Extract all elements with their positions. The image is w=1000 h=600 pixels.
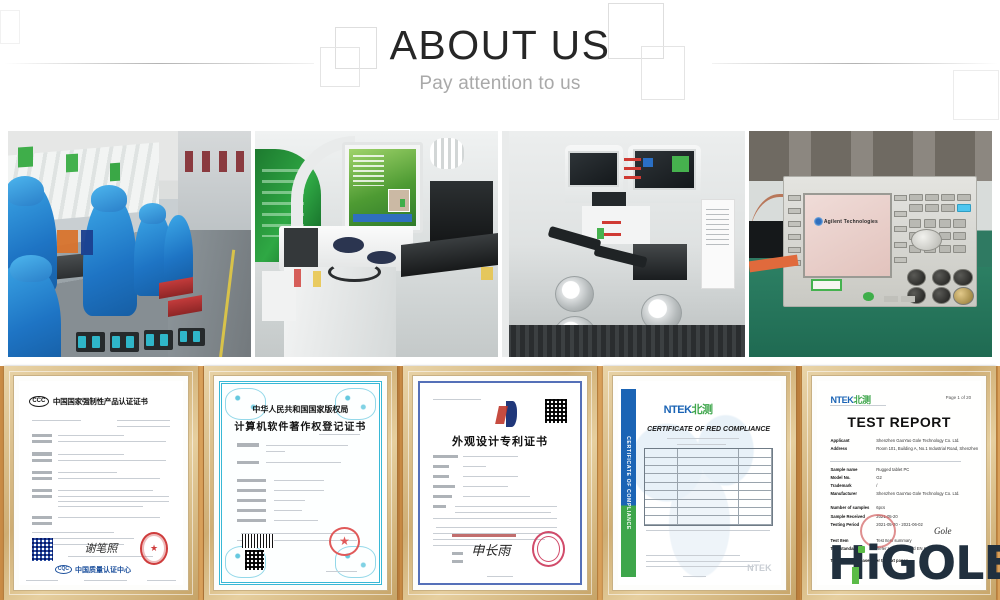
certificate-title: CERTIFICATE OF RED COMPLIANCE — [642, 426, 775, 433]
qr-code — [545, 399, 567, 423]
wall-red-bar — [202, 151, 210, 171]
certificate-signature: 申长雨 — [471, 540, 510, 559]
field-value: Shenzhen GaoYao Gole Technology Co. Ltd. — [876, 438, 959, 443]
field-label: Sample Received — [830, 514, 864, 519]
certificate-title: 中国国家强制性产品认证证书 — [53, 396, 148, 407]
standards-table — [644, 448, 773, 526]
ntek-brand: NTEK北测 — [830, 393, 870, 406]
field-label: Applicant — [830, 438, 849, 443]
field-value: 6pcs — [876, 505, 885, 510]
table-row — [645, 500, 772, 508]
table-row — [645, 474, 772, 482]
rack-green-panel — [18, 146, 33, 167]
photo-assembly-line[interactable] — [8, 131, 251, 357]
agilent-logo-icon — [814, 217, 823, 226]
table-row — [645, 508, 772, 516]
field-label: Model No. — [830, 475, 850, 480]
page-subtitle: Pay attention to us — [0, 73, 1000, 95]
cable-coil — [430, 138, 464, 170]
field-label: Trademark — [830, 483, 851, 488]
certificate-title: TEST REPORT — [817, 414, 981, 430]
field-value: G2 — [876, 475, 882, 480]
certificate-software-copyright[interactable]: 中华人民共和国国家版权局 计算机软件著作权登记证书 — [204, 366, 398, 600]
official-seal — [140, 532, 168, 565]
wall-red-bar — [236, 151, 244, 171]
authority-name: 中国质量认证中心 — [75, 565, 131, 575]
certificate-mat: CERTIFICATE OF COMPLIANCE NTEK北测 CERTIFI… — [612, 375, 788, 591]
table-row — [645, 516, 772, 524]
certificate-signature: 谢笔照 — [84, 540, 117, 556]
official-seal — [532, 531, 566, 567]
red-label — [602, 221, 621, 224]
about-us-page: ABOUT US Pay attention to us — [0, 0, 1000, 600]
sma-connector — [953, 287, 974, 305]
worker-cap — [91, 185, 127, 212]
certificate-title: 计算机软件著作权登记证书 — [222, 418, 380, 433]
table-row — [645, 466, 772, 474]
sidebar-label: CERTIFICATE OF COMPLIANCE — [625, 436, 631, 530]
rotary-knob[interactable] — [911, 229, 942, 251]
certificate-design-patent[interactable]: 外观设计专利证书 — [403, 366, 597, 600]
issuing-authority: 中华人民共和国国家版权局 — [222, 404, 380, 415]
field-label: Sample name — [830, 467, 857, 472]
rack-green-panel — [110, 162, 120, 181]
official-seal — [329, 527, 361, 557]
bnc-connector — [907, 269, 926, 286]
monitor-screen — [349, 149, 415, 225]
certificate-red-compliance[interactable]: CERTIFICATE OF COMPLIANCE NTEK北测 CERTIFI… — [603, 366, 797, 600]
certificate-document: CERTIFICATE OF COMPLIANCE NTEK北测 CERTIFI… — [618, 381, 782, 585]
bnc-connector — [953, 269, 972, 286]
certificate-title: 外观设计专利证书 — [420, 433, 580, 449]
logo-wordmark: HiGOLE — [828, 540, 1000, 586]
logo-dot-accent — [858, 546, 865, 553]
instrument-brand: Agilent Technologies — [824, 219, 878, 225]
calibration-label — [811, 279, 842, 291]
network-analyzer: Agilent Technologies — [783, 176, 977, 307]
cnipa-logo-icon — [495, 401, 519, 427]
screen-taskbar — [353, 214, 411, 222]
barcode — [242, 534, 274, 548]
certificate-sidebar: CERTIFICATE OF COMPLIANCE — [621, 389, 636, 577]
window-indicator — [643, 158, 653, 167]
machine-window — [568, 151, 619, 187]
field-value: Shenzhen GaoYao Gole Technology Co. Ltd. — [876, 491, 959, 496]
field-value: Rugged tablet PC — [876, 467, 909, 472]
machine-monitor — [342, 142, 422, 232]
header-text-block: ABOUT US Pay attention to us — [0, 0, 1000, 95]
logo-green-accent — [852, 567, 859, 584]
certificate-document: CCC 中国国家强制性产品认证证书 — [19, 381, 183, 585]
bnc-connector — [932, 269, 951, 286]
machine-controller — [284, 228, 318, 266]
authority-block: CQC 中国质量认证中心 — [55, 565, 131, 575]
field-value: Room 101, Building A, No.1 Industrial Ro… — [876, 446, 978, 451]
field-label: Address — [830, 446, 847, 451]
field-label: Manufacturer — [830, 491, 857, 496]
photo-smt-machine[interactable] — [255, 131, 498, 357]
field-value: / — [876, 483, 877, 488]
cqc-mark-icon: CQC — [55, 565, 72, 574]
machine-base — [502, 325, 745, 357]
table-row — [645, 449, 772, 457]
certificate-document: 外观设计专利证书 — [418, 381, 582, 585]
component-reel — [555, 276, 594, 312]
certificate-mat: 中华人民共和国国家版权局 计算机软件著作权登记证书 — [213, 375, 389, 591]
machine-handle — [333, 237, 365, 253]
red-label — [624, 167, 641, 170]
ccc-mark-icon: CCC — [29, 396, 49, 407]
worker — [164, 215, 193, 283]
certificate-mat: 外观设计专利证书 — [412, 375, 588, 591]
page-number: Page 1 of 20 — [946, 395, 972, 400]
instrument-screen: Agilent Technologies — [803, 193, 891, 278]
table-row — [645, 483, 772, 491]
field-label: Testing Period — [830, 522, 859, 527]
wall-red-bar — [219, 151, 227, 171]
photo-test-instrument[interactable]: Agilent Technologies — [749, 131, 992, 357]
field-label: Number of samples — [830, 505, 869, 510]
background-wall — [749, 131, 992, 181]
worker-cap — [10, 255, 51, 282]
green-label — [597, 228, 604, 239]
photo-pick-and-place[interactable] — [502, 131, 745, 357]
green-label — [672, 156, 689, 172]
document-sheet — [701, 199, 735, 289]
worker-cap — [8, 176, 44, 205]
ntek-brand: NTEK北测 — [664, 401, 713, 417]
certificate-document: 中华人民共和国国家版权局 计算机软件著作权登记证书 — [219, 381, 383, 585]
qr-code — [245, 550, 264, 570]
bnc-connector — [932, 287, 951, 304]
red-label — [624, 176, 641, 179]
factory-photo-gallery: Agilent Technologies — [8, 131, 992, 357]
wall-red-bar — [185, 151, 193, 171]
qr-code — [32, 538, 53, 560]
ntek-watermark: NTEK — [747, 563, 772, 573]
certificate-ccc[interactable]: CCC 中国国家强制性产品认证证书 — [4, 366, 198, 600]
bench-equipment — [749, 221, 783, 257]
red-label — [602, 233, 621, 236]
rack-green-panel — [66, 153, 78, 172]
table-row — [645, 491, 772, 499]
table-row — [645, 458, 772, 466]
certificate-mat: CCC 中国国家强制性产品认证证书 — [13, 375, 189, 591]
certificate-header: CCC 中国国家强制性产品认证证书 — [29, 393, 173, 409]
higole-logo: HiGOLE 高乐 — [828, 528, 1000, 586]
worker-cap — [139, 203, 166, 223]
page-header: ABOUT US Pay attention to us — [0, 0, 1000, 120]
page-title: ABOUT US — [0, 22, 1000, 68]
red-label — [624, 158, 641, 161]
highlighted-key[interactable] — [957, 204, 971, 211]
